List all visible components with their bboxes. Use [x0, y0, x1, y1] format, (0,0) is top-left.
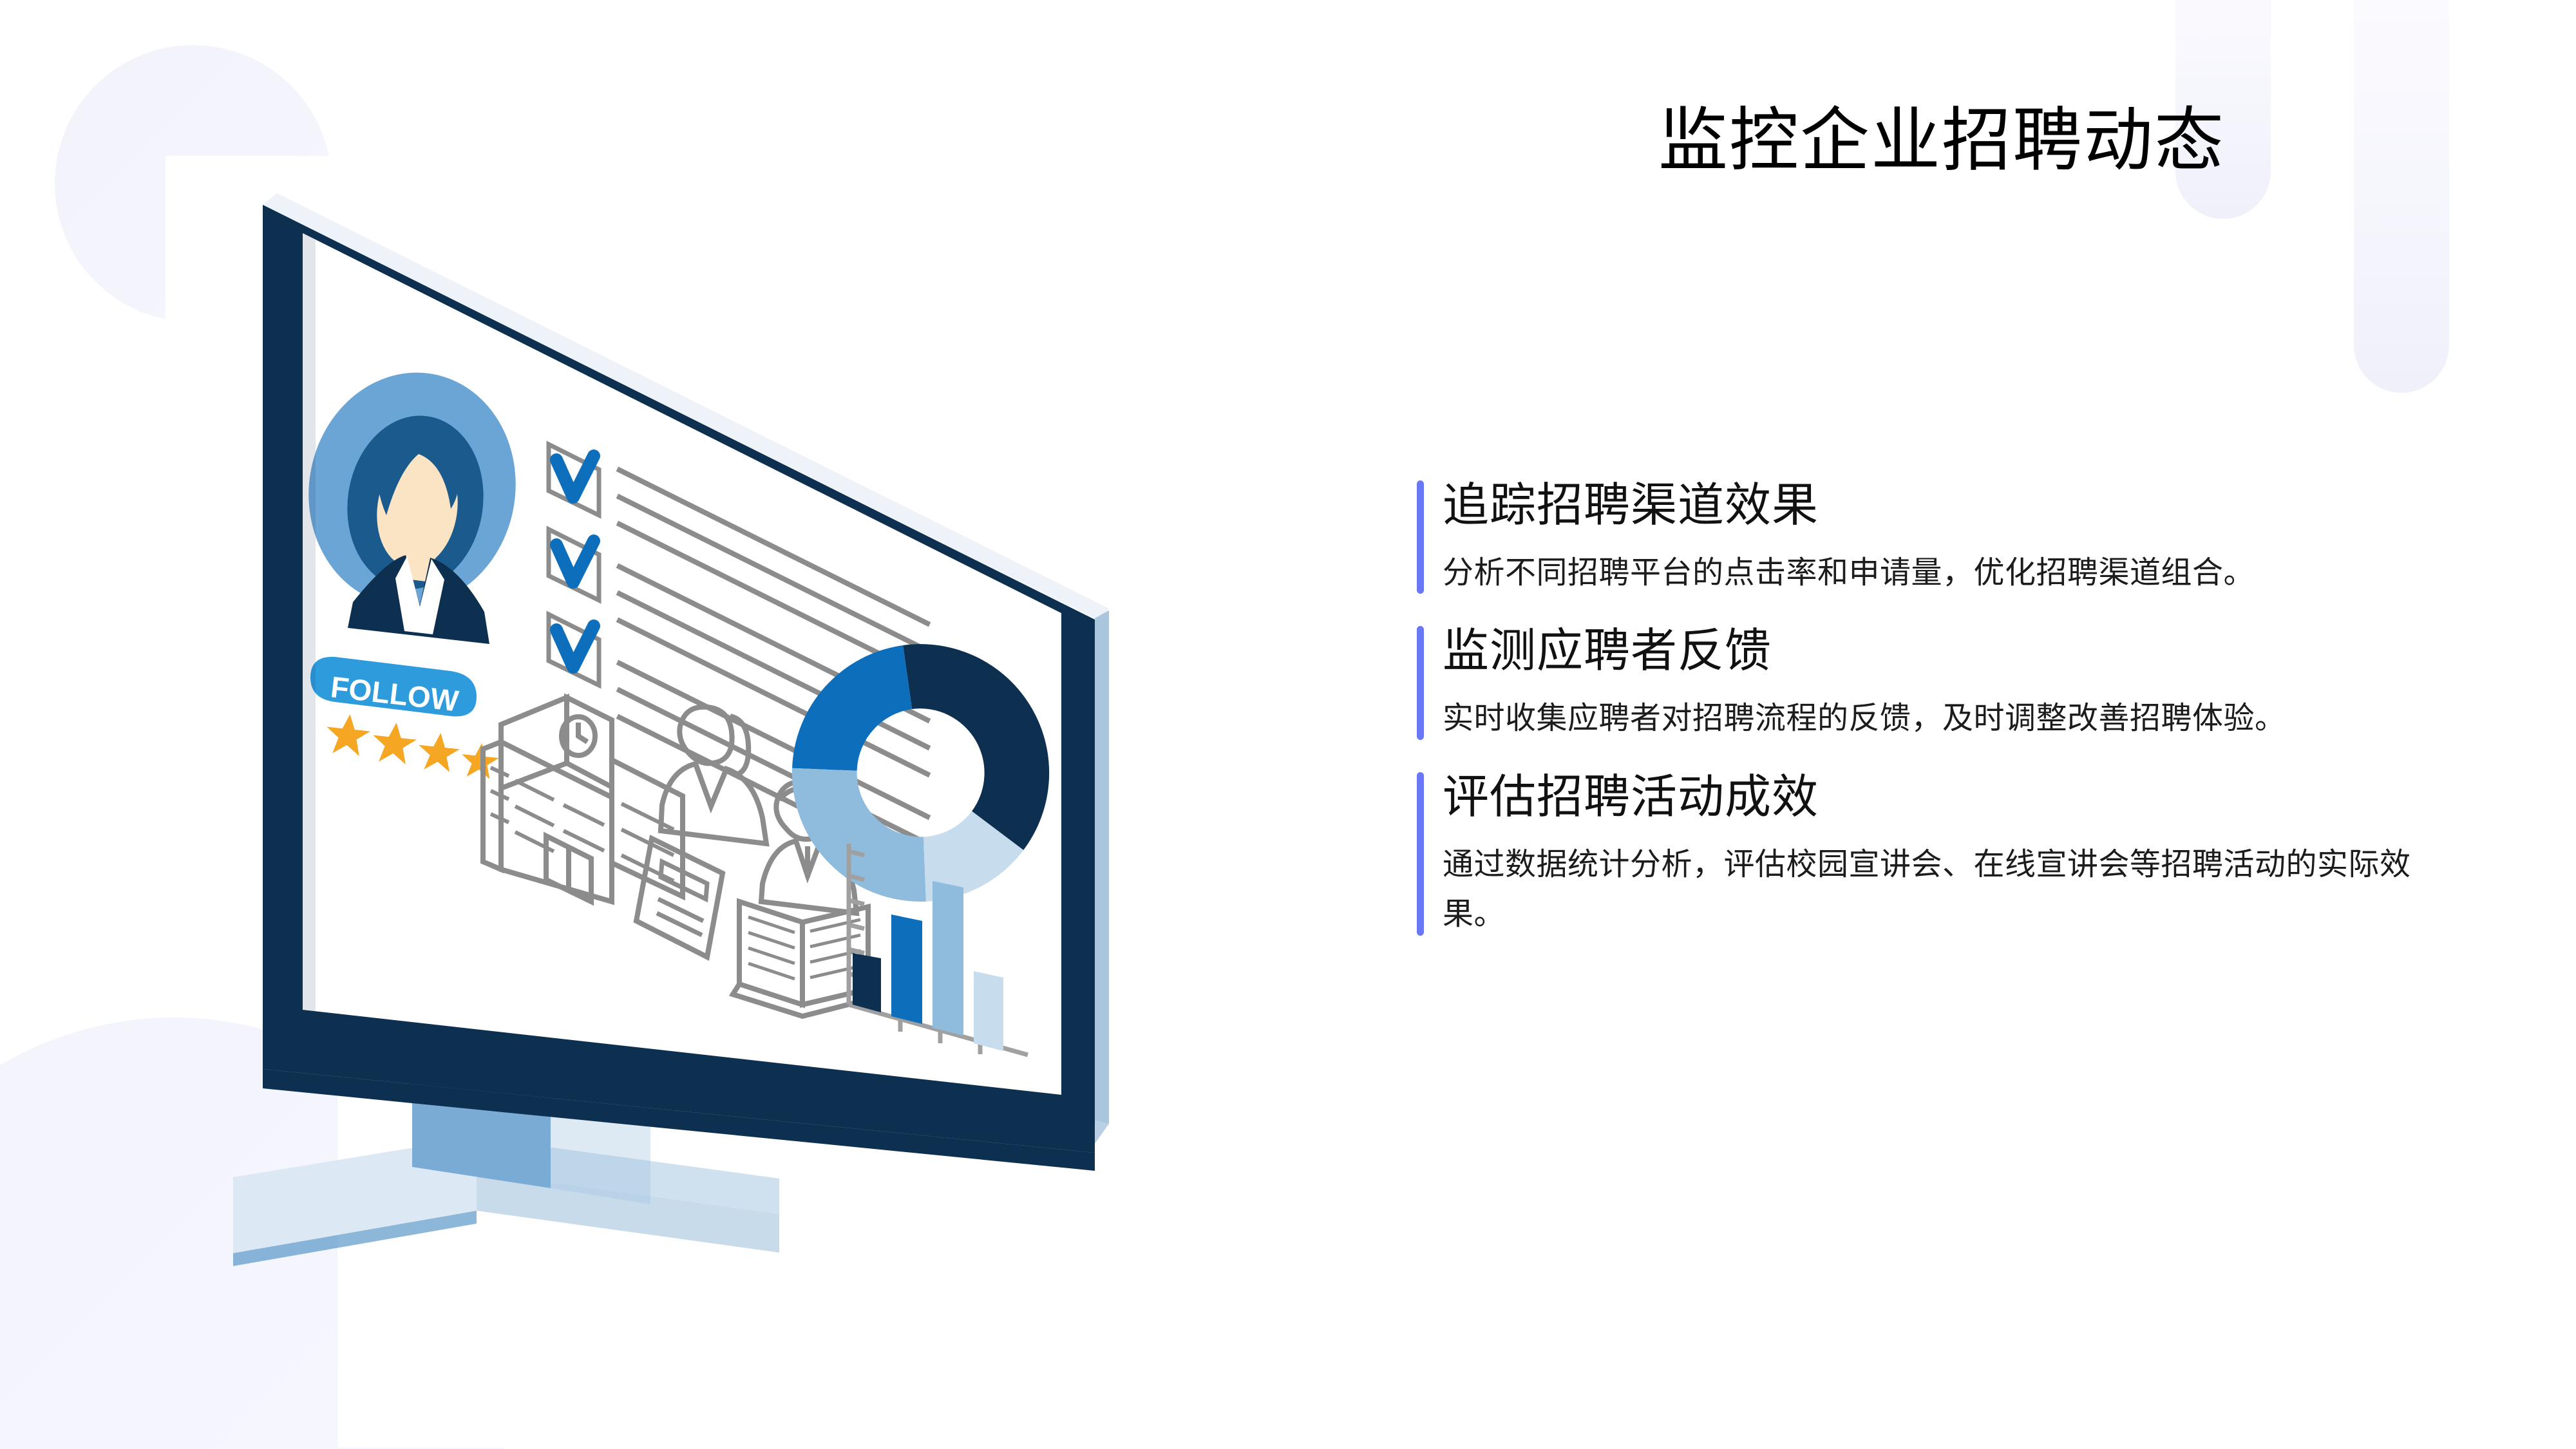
feature-heading: 追踪招聘渠道效果	[1443, 477, 2505, 535]
page-title: 监控企业招聘动态	[1426, 97, 2457, 184]
monitor-illustration: FOLLOW	[0, 0, 1256, 1449]
accent-bar-icon	[1417, 772, 1424, 936]
content-column: 监控企业招聘动态 追踪招聘渠道效果 分析不同招聘平台的点击率和申请量，优化招聘渠…	[1410, 0, 2518, 1449]
feature-block-list: 追踪招聘渠道效果 分析不同招聘平台的点击率和申请量，优化招聘渠道组合。 监测应聘…	[1410, 477, 2505, 940]
feature-block: 监测应聘者反馈 实时收集应聘者对招聘流程的反馈，及时调整改善招聘体验。	[1410, 622, 2505, 743]
bar-4	[974, 971, 1003, 1051]
bar-2	[891, 914, 922, 1024]
accent-bar-icon	[1417, 480, 1424, 594]
feature-block: 评估招聘活动成效 通过数据统计分析，评估校园宣讲会、在线宣讲会等招聘活动的实际效…	[1410, 768, 2505, 940]
feature-heading: 评估招聘活动成效	[1443, 768, 2505, 827]
bar-3	[933, 881, 963, 1036]
feature-body: 通过数据统计分析，评估校园宣讲会、在线宣讲会等招聘活动的实际效果。	[1443, 840, 2473, 940]
feature-body: 实时收集应聘者对招聘流程的反馈，及时调整改善招聘体验。	[1443, 694, 2473, 744]
feature-block: 追踪招聘渠道效果 分析不同招聘平台的点击率和申请量，优化招聘渠道组合。	[1410, 477, 2505, 598]
bar-1	[853, 953, 881, 1012]
feature-heading: 监测应聘者反馈	[1443, 622, 2505, 681]
feature-body: 分析不同招聘平台的点击率和申请量，优化招聘渠道组合。	[1443, 548, 2473, 598]
slide-root: FOLLOW	[0, 0, 2576, 1449]
accent-bar-icon	[1417, 626, 1424, 739]
